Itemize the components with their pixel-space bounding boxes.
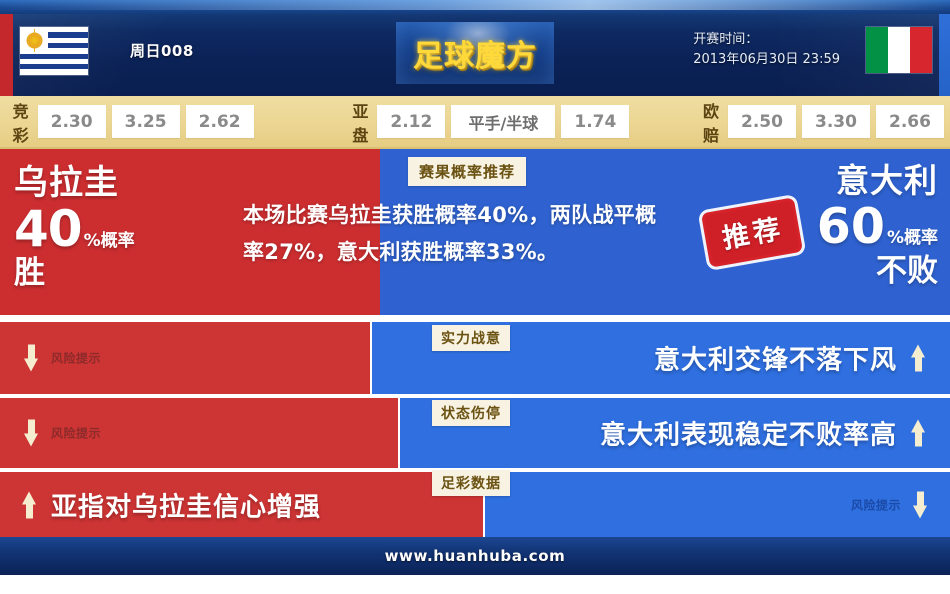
odds-bar: 竞彩 2.30 3.25 2.62 亚盘 2.12 平手/半球 1.74 欧赔 … (0, 96, 950, 149)
odds-cell[interactable]: 2.66 (876, 105, 944, 138)
arrow-up-icon (911, 345, 926, 372)
factor-badge: 实力战意 (432, 325, 510, 351)
footer-padding (0, 575, 950, 594)
home-team-name: 乌拉圭 (14, 163, 214, 203)
factor-statement: 意大利表现稳定不败率高 (600, 415, 926, 452)
odds-cell[interactable]: 2.12 (377, 105, 445, 138)
factor-row-red-segment: 风险提示 (0, 398, 398, 468)
kickoff-info: 开赛时间： 2013年06月30日 23:59 (693, 30, 840, 70)
arrow-down-icon (24, 420, 39, 447)
arrow-down-icon (24, 345, 39, 372)
home-team-percent-unit: %概率 (84, 226, 135, 251)
away-team-result: 不败 (817, 253, 938, 289)
odds-cell[interactable]: 2.62 (186, 105, 254, 138)
odds-cell[interactable]: 2.30 (38, 105, 106, 138)
factor-badge: 足彩数据 (432, 470, 510, 496)
arrow-up-icon (911, 420, 926, 447)
odds-group-title: 欧赔 (703, 98, 720, 146)
odds-group-jingcai: 竞彩 2.30 3.25 2.62 (13, 98, 260, 146)
risk-tip: 风险提示 (851, 491, 928, 518)
odds-cell[interactable]: 1.74 (561, 105, 629, 138)
logo-text: 足球魔方 (413, 31, 537, 75)
risk-tip-label: 风险提示 (851, 496, 901, 513)
factor-statement-text: 意大利交锋不落下风 (654, 340, 897, 377)
odds-cell[interactable]: 3.25 (112, 105, 180, 138)
away-team-name: 意大利 (817, 161, 938, 201)
kickoff-label: 开赛时间： (693, 30, 840, 50)
site-url[interactable]: www.huanhuba.com (385, 547, 566, 565)
probability-summary: 本场比赛乌拉圭获胜概率40%，两队战平概率27%，意大利获胜概率33%。 (243, 197, 675, 271)
factor-row-blue-segment: 风险提示 (485, 472, 950, 537)
arrow-up-icon (22, 491, 37, 518)
home-team-result: 胜 (14, 255, 214, 291)
header-top-highlight (0, 0, 950, 10)
odds-group-title: 亚盘 (352, 98, 369, 146)
uruguay-flag-icon (20, 27, 88, 75)
odds-cell[interactable]: 2.50 (728, 105, 796, 138)
factor-row-red-segment: 风险提示 (0, 322, 370, 394)
factor-row-red-segment: 亚指对乌拉圭信心增强 (0, 472, 483, 537)
footer-bar: www.huanhuba.com (0, 537, 950, 575)
away-team-percent-unit: %概率 (887, 223, 938, 248)
risk-tip: 风险提示 (24, 345, 101, 372)
kickoff-time: 2013年06月30日 23:59 (693, 50, 840, 70)
factor-badge: 状态伤停 (432, 400, 510, 426)
header-bar: 周日008 足球魔方 开赛时间： 2013年06月30日 23:59 (0, 0, 950, 96)
risk-tip-label: 风险提示 (51, 425, 101, 442)
infographic-page: 周日008 足球魔方 开赛时间： 2013年06月30日 23:59 竞彩 2.… (0, 0, 950, 594)
odds-group-title: 竞彩 (13, 98, 30, 146)
factor-statement: 意大利交锋不落下风 (654, 340, 926, 377)
round-label: 周日008 (130, 40, 194, 61)
hero-badge: 赛果概率推荐 (408, 157, 526, 186)
header-left-red-edge (0, 14, 13, 96)
factor-statement-text: 意大利表现稳定不败率高 (600, 415, 897, 452)
away-team-percent: 60 (817, 201, 885, 253)
odds-cell[interactable]: 3.30 (802, 105, 870, 138)
factor-statement-text: 亚指对乌拉圭信心增强 (51, 486, 321, 523)
odds-group-yapan: 亚盘 2.12 平手/半球 1.74 (352, 98, 635, 146)
arrow-down-icon (913, 491, 928, 518)
factor-statement: 亚指对乌拉圭信心增强 (22, 486, 321, 523)
away-team-block: 意大利 60 %概率 不败 (817, 161, 938, 289)
home-team-percent: 40 (14, 203, 82, 255)
site-logo: 足球魔方 (396, 22, 554, 84)
italy-flag-icon (866, 27, 932, 73)
risk-tip-label: 风险提示 (51, 350, 101, 367)
header-right-blue-edge (939, 14, 950, 96)
risk-tip: 风险提示 (24, 420, 101, 447)
odds-group-oupei: 欧赔 2.50 3.30 2.66 (703, 98, 950, 146)
home-team-block: 乌拉圭 40 %概率 胜 (14, 163, 214, 291)
odds-cell-handicap[interactable]: 平手/半球 (451, 105, 555, 138)
